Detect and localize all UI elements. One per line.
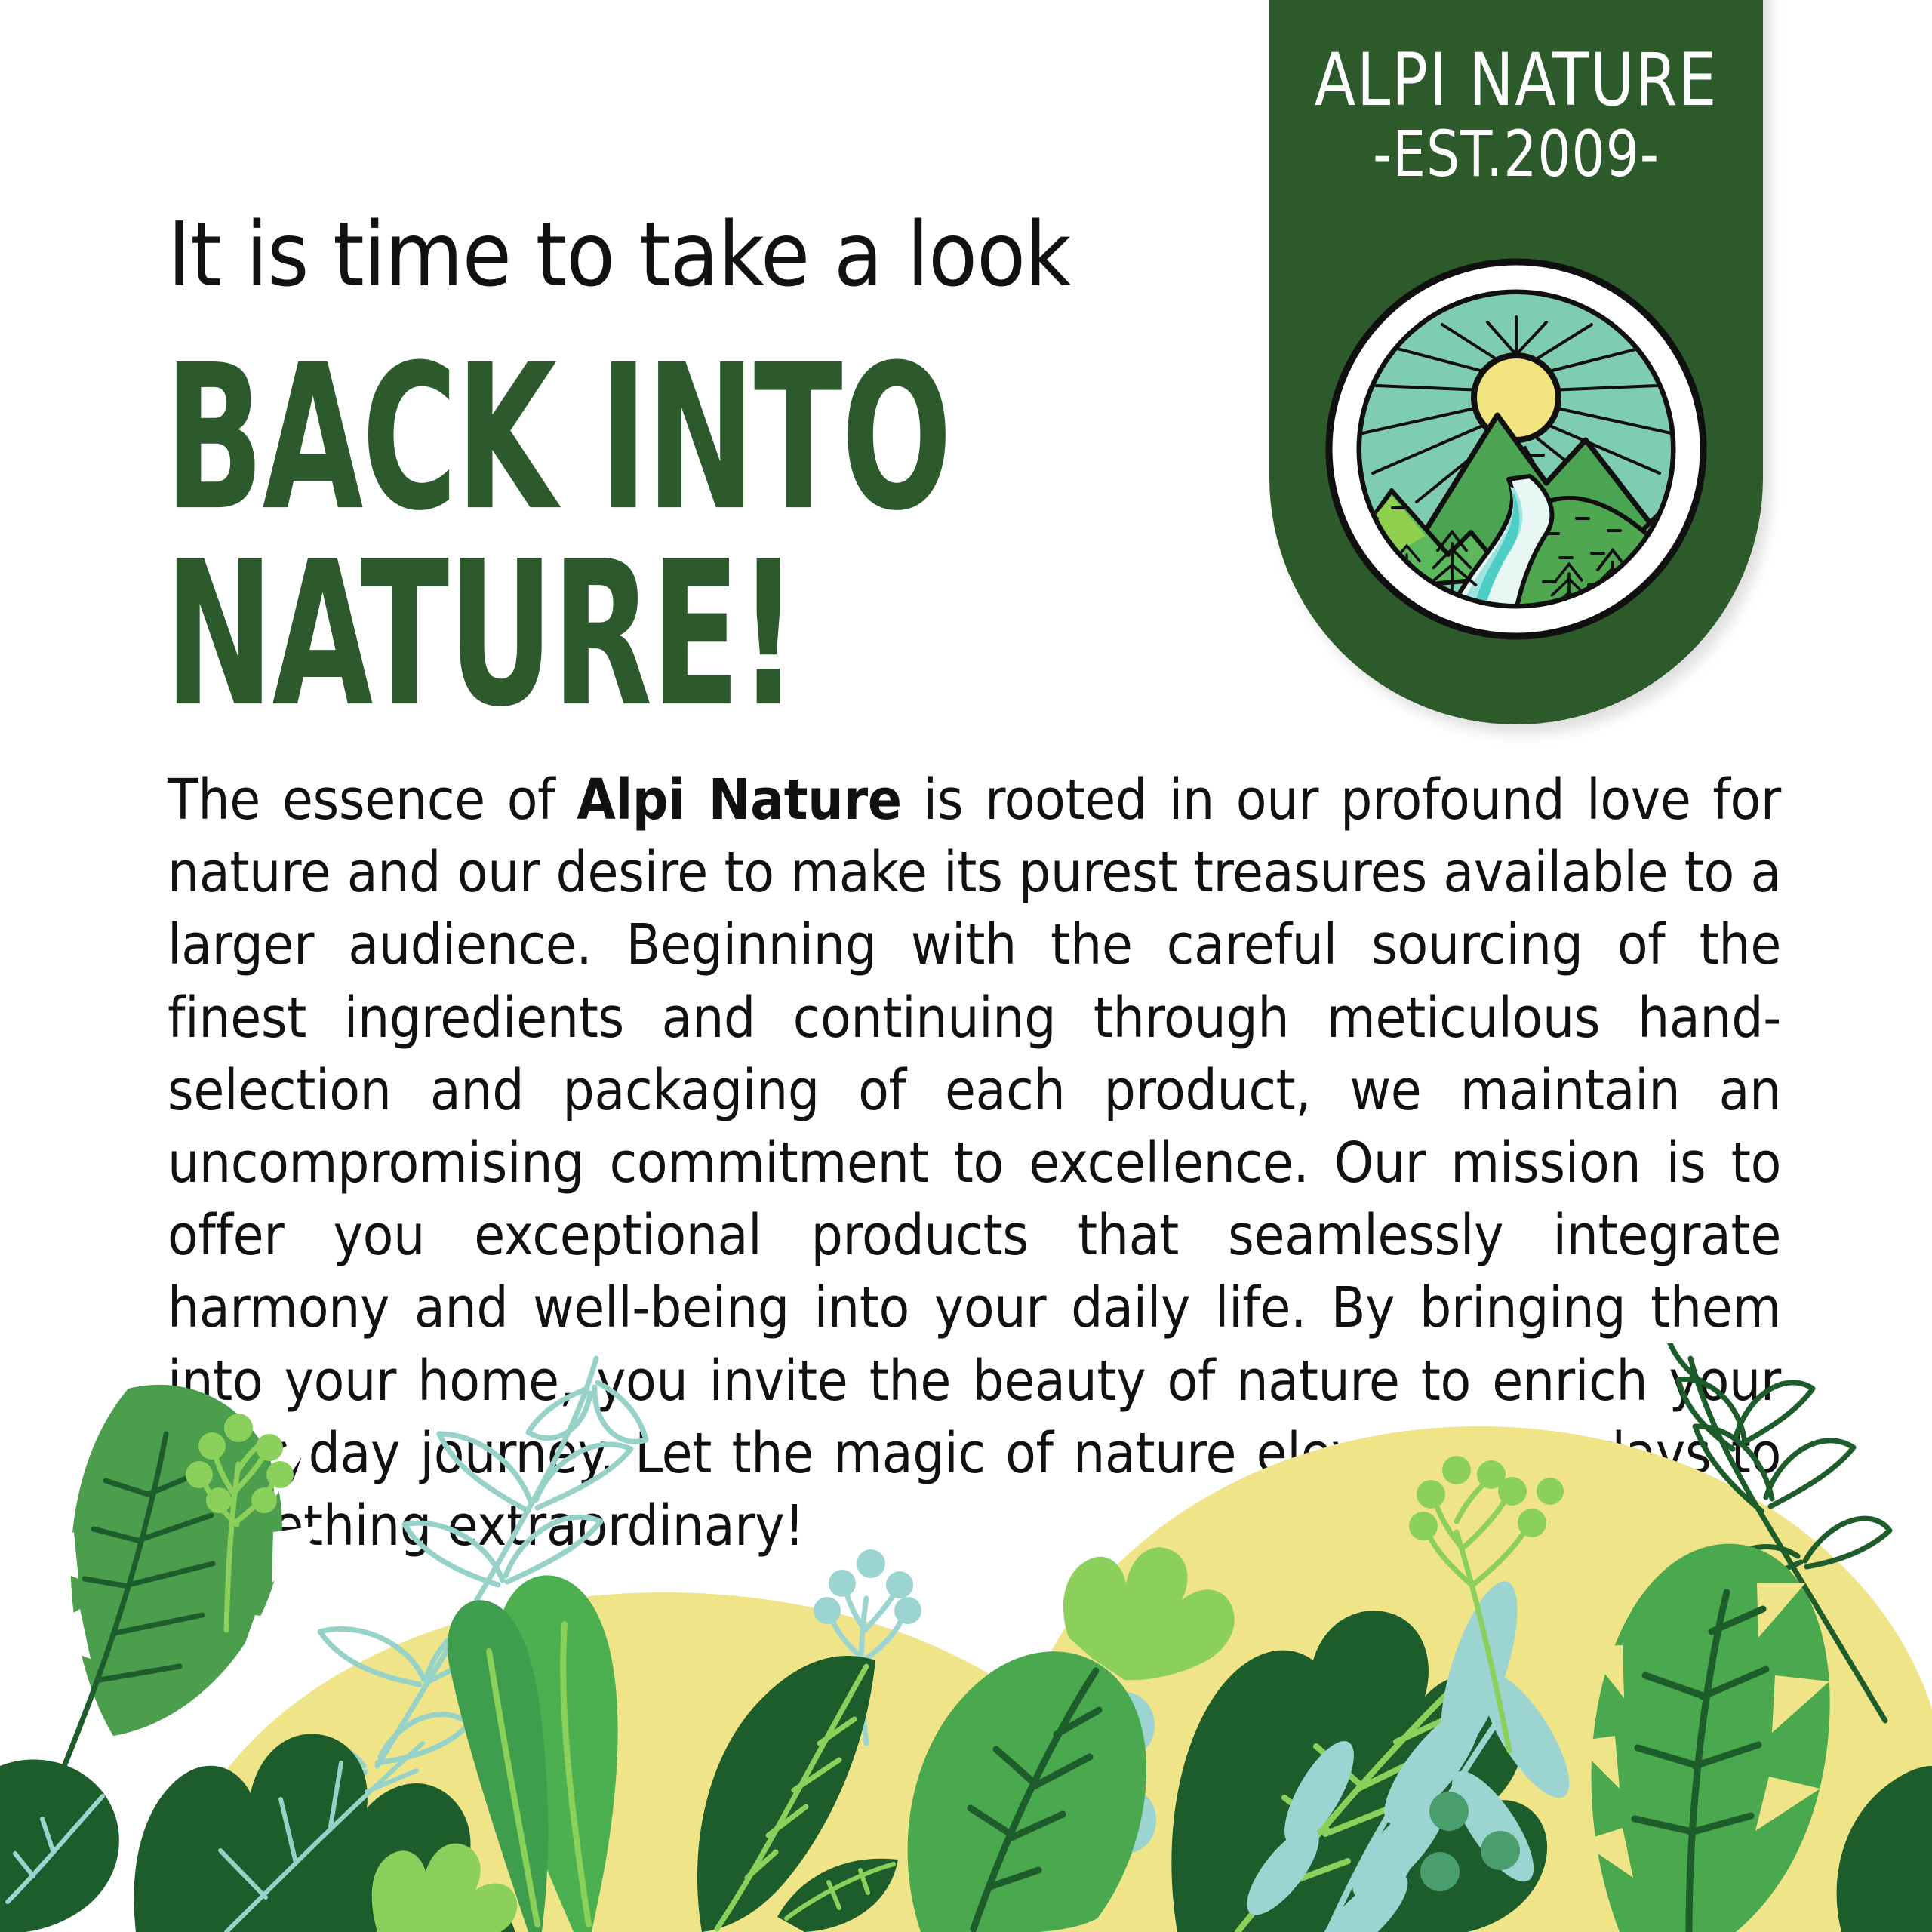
badge-brand-name: ALPI NATURE <box>1289 38 1743 122</box>
brand-badge: ALPI NATURE -EST.2009- <box>1269 0 1763 724</box>
headline-line-1: BACK INTO <box>165 340 950 540</box>
leaf-dark-far-left-bottom <box>0 1759 119 1932</box>
mountain-sun-river-emblem-icon <box>1320 253 1712 645</box>
badge-established-year: -EST.2009- <box>1289 117 1743 191</box>
poster-canvas: ALPI NATURE -EST.2009- <box>0 0 1932 1932</box>
berry-dots-sage-center <box>814 1549 921 1624</box>
headline-line-2: NATURE! <box>165 536 796 736</box>
brand-name-emphasis: Alpi Nature <box>577 768 902 832</box>
page-kicker: It is time to take a look <box>168 202 1070 306</box>
body-text-before: The essence of <box>168 768 577 832</box>
botanical-leaves-illustration-icon <box>0 1343 1932 1932</box>
